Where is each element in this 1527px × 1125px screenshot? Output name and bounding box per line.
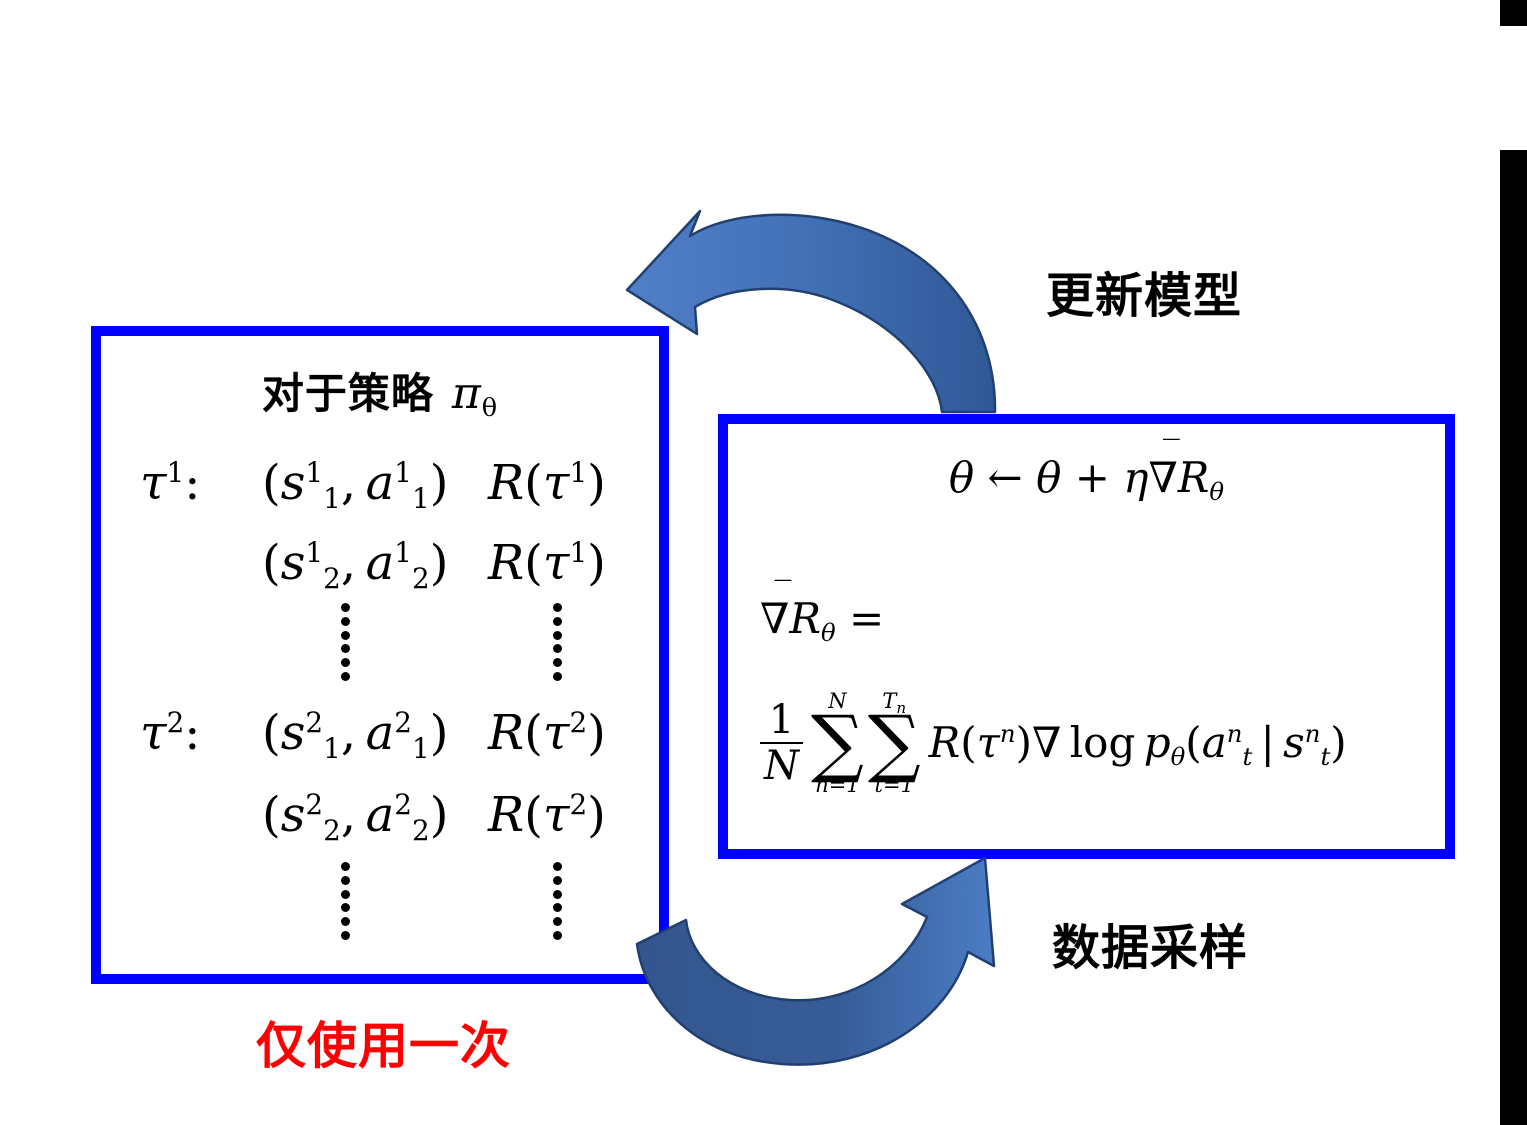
state-action-pair: (s11, a11) xyxy=(262,459,482,507)
reward-value: R(τ1) xyxy=(488,459,668,507)
reward-value: R(τ2) xyxy=(488,791,668,839)
slide-canvas: 对于策略πθ τ1: (s11, a11) R(τ1) (s12, a12) R… xyxy=(0,0,1527,1125)
update-model-arrow xyxy=(627,211,995,412)
reward-value: R(τ1) xyxy=(488,539,668,587)
trajectory-label-tau2: τ2: xyxy=(140,709,260,757)
use-once-label: 仅使用一次 xyxy=(256,1006,511,1078)
parameter-update-rule: θ ← θ + η∇R̅θ xyxy=(718,457,1455,499)
policy-pi-symbol: πθ xyxy=(452,368,498,419)
trajectory-data-box xyxy=(91,326,669,984)
policy-theta-subscript: θ xyxy=(482,393,498,423)
trajectory-label-tau1: τ1: xyxy=(140,459,260,507)
vertical-ellipsis-icon xyxy=(548,862,566,940)
gradient-expression: 1 N N ∑ n=1 Tn ∑ t=1 R(τn)∇ log pθ(ant |… xyxy=(760,690,1347,797)
state-action-pair: (s21, a21) xyxy=(262,709,482,757)
data-sampling-arrow xyxy=(637,858,994,1065)
vertical-ellipsis-icon xyxy=(336,603,354,681)
one-over-n-fraction: 1 N xyxy=(760,700,803,788)
right-edge-band-top xyxy=(1500,0,1527,26)
policy-title: 对于策略πθ xyxy=(91,360,669,421)
policy-title-text: 对于策略 xyxy=(262,369,434,418)
right-edge-band-bottom xyxy=(1500,150,1527,1125)
gradient-log-prob-term: R(τn)∇ log pθ(ant | snt) xyxy=(929,722,1347,764)
sum-over-t: Tn ∑ t=1 xyxy=(868,690,921,797)
reward-value: R(τ2) xyxy=(488,709,668,757)
gradient-definition: ∇R̅θ = xyxy=(760,598,884,640)
sum-over-n: N ∑ n=1 xyxy=(811,690,864,797)
data-sampling-label: 数据采样 xyxy=(1052,908,1248,978)
update-model-label: 更新模型 xyxy=(1046,256,1242,326)
state-action-pair: (s22, a22) xyxy=(262,791,482,839)
vertical-ellipsis-icon xyxy=(548,603,566,681)
vertical-ellipsis-icon xyxy=(336,862,354,940)
state-action-pair: (s12, a12) xyxy=(262,539,482,587)
